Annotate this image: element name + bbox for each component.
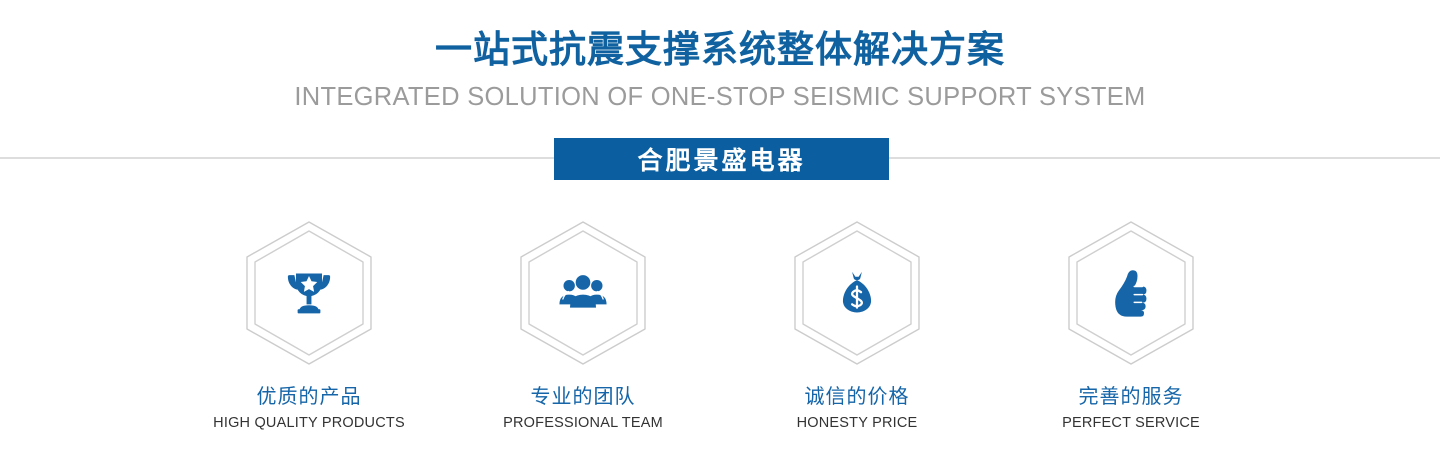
feature-list: 优质的产品 HIGH QUALITY PRODUCTS bbox=[0, 218, 1440, 432]
divider-line-right bbox=[889, 157, 1440, 159]
feature-title-cn: 专业的团队 bbox=[531, 385, 636, 409]
brand-name-banner: 合肥景盛电器 bbox=[554, 138, 889, 180]
money-bag-icon bbox=[786, 218, 928, 368]
feature-item-professional-team[interactable]: 专业的团队 PROFESSIONAL TEAM bbox=[512, 218, 654, 432]
feature-item-perfect-service[interactable]: 完善的服务 PERFECT SERVICE bbox=[1060, 218, 1202, 432]
feature-item-high-quality-products[interactable]: 优质的产品 HIGH QUALITY PRODUCTS bbox=[238, 218, 380, 432]
hexagon-frame bbox=[1060, 218, 1202, 368]
feature-title-cn: 完善的服务 bbox=[1079, 385, 1184, 409]
promo-banner-page: 一站式抗震支撑系统整体解决方案 INTEGRATED SOLUTION OF O… bbox=[0, 0, 1440, 452]
page-title: 一站式抗震支撑系统整体解决方案 bbox=[0, 0, 1440, 72]
hexagon-frame bbox=[238, 218, 380, 368]
feature-title-cn: 诚信的价格 bbox=[805, 385, 910, 409]
brand-divider-row: 合肥景盛电器 bbox=[0, 138, 1440, 180]
feature-title-en: HIGH QUALITY PRODUCTS bbox=[213, 415, 405, 432]
feature-title-en: PROFESSIONAL TEAM bbox=[503, 415, 663, 432]
page-subtitle: INTEGRATED SOLUTION OF ONE-STOP SEISMIC … bbox=[0, 72, 1440, 112]
thumbs-up-icon bbox=[1060, 218, 1202, 368]
hexagon-frame bbox=[512, 218, 654, 368]
hexagon-frame bbox=[786, 218, 928, 368]
feature-title-en: HONESTY PRICE bbox=[797, 415, 918, 432]
header-block: 一站式抗震支撑系统整体解决方案 INTEGRATED SOLUTION OF O… bbox=[0, 0, 1440, 112]
feature-title-en: PERFECT SERVICE bbox=[1062, 415, 1200, 432]
feature-item-honesty-price[interactable]: 诚信的价格 HONESTY PRICE bbox=[786, 218, 928, 432]
trophy-icon bbox=[238, 218, 380, 368]
divider-line-left bbox=[0, 157, 554, 159]
team-people-icon bbox=[512, 218, 654, 368]
feature-title-cn: 优质的产品 bbox=[257, 385, 362, 409]
